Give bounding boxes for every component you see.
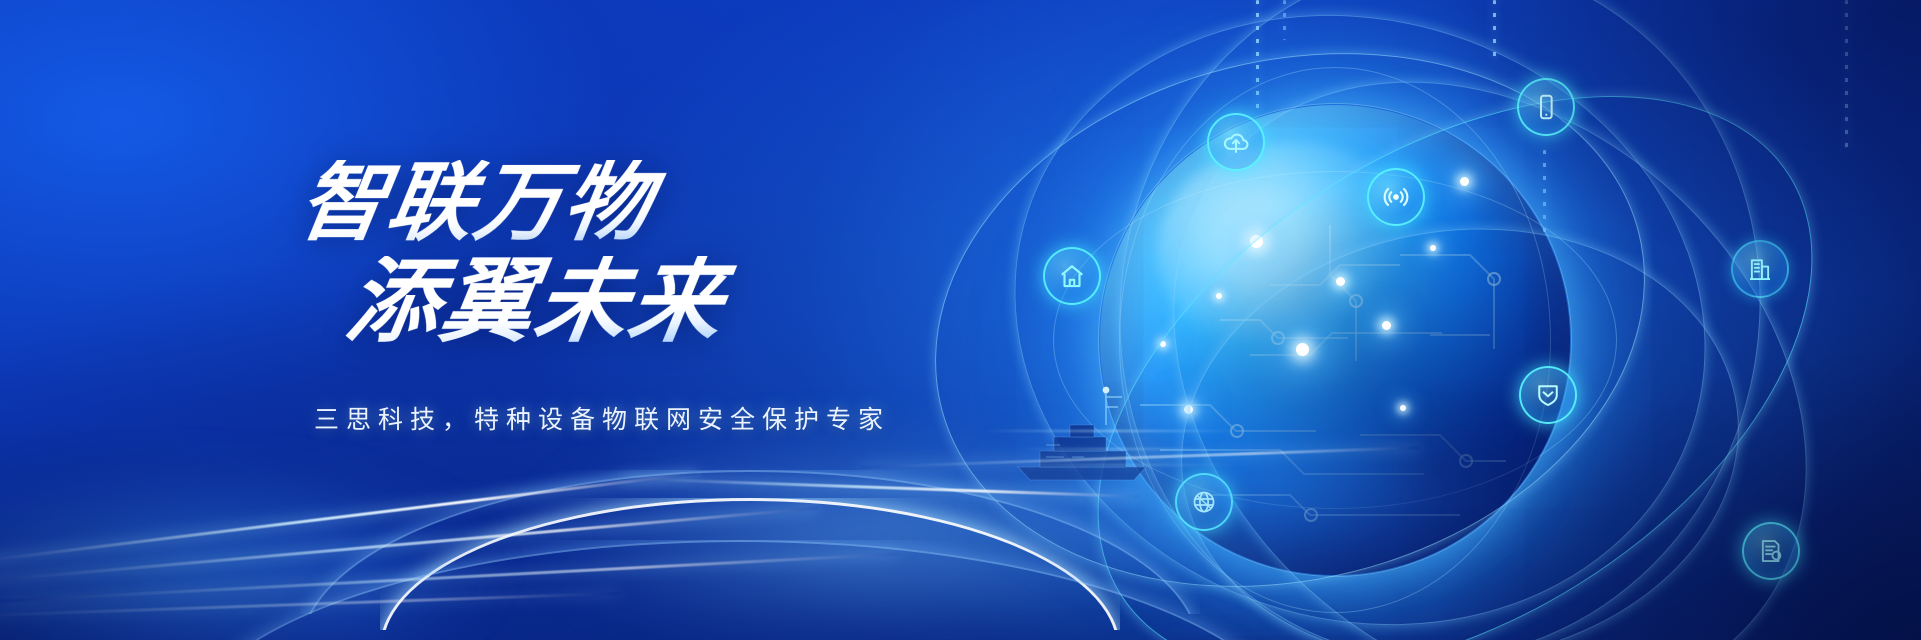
node-wifi[interactable] — [1367, 168, 1425, 226]
dotted-line-4 — [1845, 0, 1848, 150]
water-reflection-2 — [1020, 448, 1220, 450]
water-reflection-1 — [980, 430, 1240, 432]
water-reflection-3 — [1000, 464, 1240, 466]
hero-subtitle: 三思科技，特种设备物联网安全保护专家 — [314, 400, 940, 436]
home-icon — [1057, 261, 1087, 291]
building-icon — [1745, 254, 1775, 284]
node-smartphone[interactable] — [1517, 78, 1575, 136]
smartphone-icon — [1531, 92, 1561, 122]
node-home[interactable] — [1043, 247, 1101, 305]
wifi-icon — [1381, 182, 1411, 212]
headline-line-1: 智联万物 — [293, 160, 947, 246]
hero-copy: 智联万物 添翼未来 三思科技，特种设备物联网安全保护专家 — [300, 160, 940, 436]
node-cloud-upload[interactable] — [1207, 113, 1265, 171]
cloud-upload-icon — [1221, 127, 1251, 157]
headline-line-2: 添翼未来 — [341, 256, 948, 348]
light-trail-water — [0, 390, 1921, 640]
node-building[interactable] — [1731, 240, 1789, 298]
hero-banner: 智联万物 添翼未来 三思科技，特种设备物联网安全保护专家 — [0, 0, 1921, 640]
